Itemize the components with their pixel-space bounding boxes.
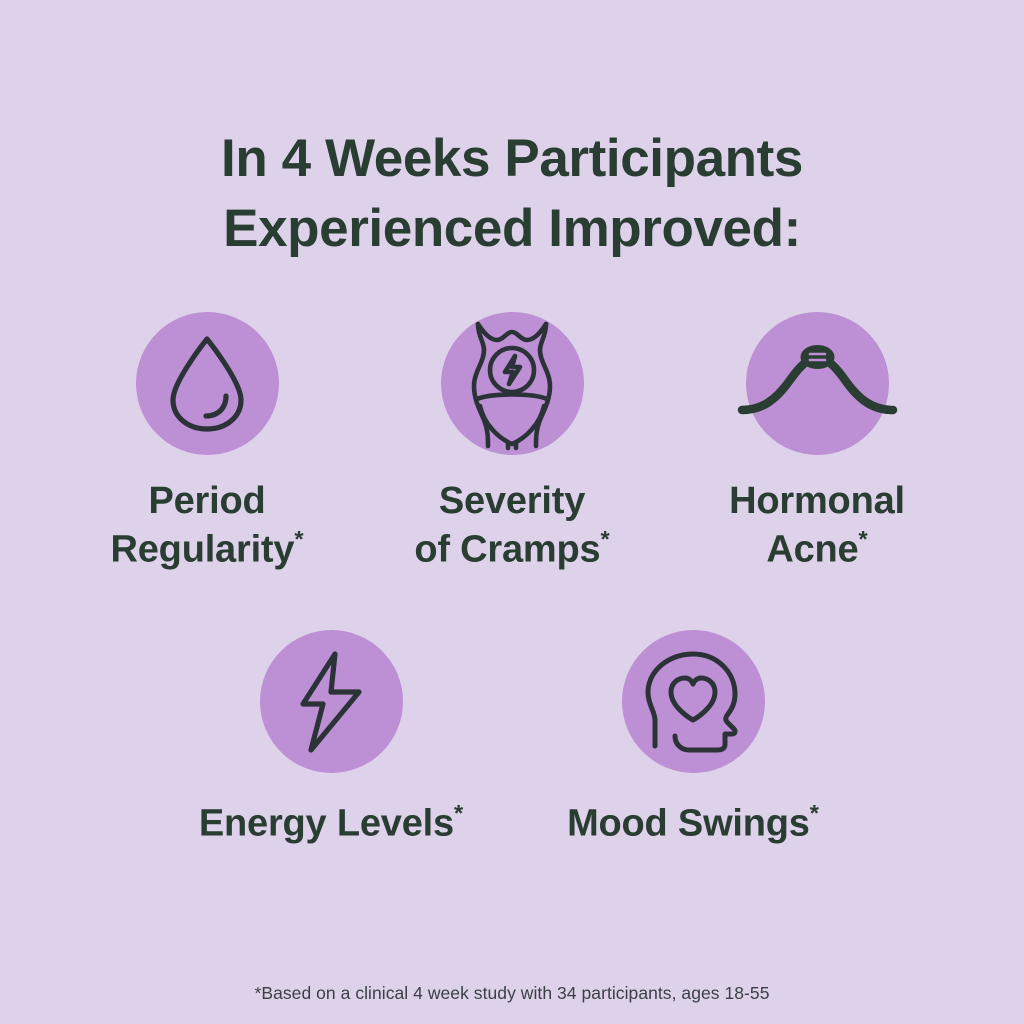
footnote-marker: *	[810, 800, 819, 826]
benefit-icon-badge	[136, 312, 279, 455]
benefit-label: Mood Swings*	[567, 799, 819, 848]
benefit-icon-badge	[622, 630, 765, 773]
benefits-row-bottom: Energy Levels* Mood Swings*	[0, 630, 1024, 848]
footnote-marker: *	[600, 526, 609, 552]
footnote-marker: *	[858, 526, 867, 552]
study-footnote: *Based on a clinical 4 week study with 3…	[0, 983, 1024, 1004]
head-heart-icon	[641, 650, 745, 754]
benefit-icon-badge	[260, 630, 403, 773]
benefit-label: Hormonal Acne*	[729, 477, 905, 574]
benefits-row-top: Period Regularity*	[0, 312, 1024, 574]
footnote-marker: *	[294, 526, 303, 552]
benefit-label-text: Mood Swings	[567, 803, 810, 845]
benefit-label: Period Regularity*	[111, 477, 304, 574]
benefit-label-text: Hormonal Acne	[729, 480, 905, 571]
benefit-label: Energy Levels*	[199, 799, 463, 848]
benefit-label-text: Severity of Cramps	[414, 480, 600, 571]
benefit-item-energy-levels: Energy Levels*	[150, 630, 512, 848]
benefit-item-period-regularity: Period Regularity*	[55, 312, 360, 574]
skin-blemish-icon	[746, 324, 889, 444]
benefit-label-text: Period Regularity	[111, 480, 295, 571]
page-title: In 4 Weeks Participants Experienced Impr…	[0, 124, 1024, 265]
lightning-bolt-icon	[291, 650, 371, 754]
footnote-marker: *	[454, 800, 463, 826]
benefit-item-severity-of-cramps: Severity of Cramps*	[360, 312, 665, 574]
benefit-label-text: Energy Levels	[199, 803, 454, 845]
benefit-item-hormonal-acne: Hormonal Acne*	[665, 312, 970, 574]
benefit-icon-badge	[441, 312, 584, 455]
infographic-poster: In 4 Weeks Participants Experienced Impr…	[0, 0, 1024, 1024]
abdomen-cramps-icon	[458, 320, 566, 448]
water-droplet-icon	[163, 334, 251, 434]
benefit-item-mood-swings: Mood Swings*	[512, 630, 874, 848]
benefit-label: Severity of Cramps*	[414, 477, 609, 574]
benefit-icon-badge	[746, 312, 889, 455]
